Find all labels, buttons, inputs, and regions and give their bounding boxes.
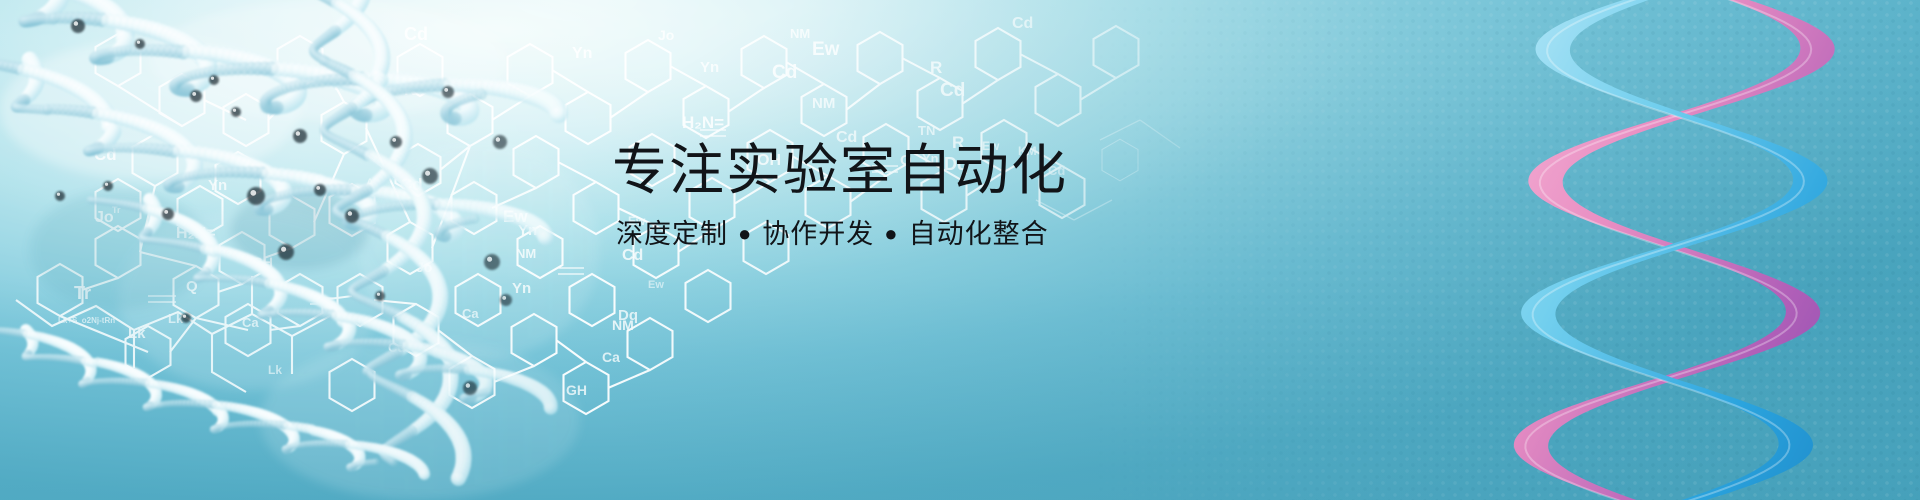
bead-highlight [296,131,300,135]
bead-highlight [164,210,168,214]
bead-highlight [377,293,380,296]
bead-highlight [250,190,256,196]
bead-dark-accent [442,86,454,98]
dna-double-helix [1360,0,1920,500]
bead-highlight [137,41,140,44]
bead-dark-accent [278,244,294,260]
bead-dark-accent [422,168,438,184]
bead-dark-accent [484,254,500,270]
bead-dark-accent [135,39,145,49]
bead-highlight [348,211,352,215]
bead-highlight [496,137,500,141]
bead-dark-accent [493,135,507,149]
subtitle-item-1: 深度定制 [616,219,728,249]
bead-dark-accent [231,107,241,117]
bead-dark-accent [314,184,326,196]
bead-dark-accent [463,381,477,395]
bead-highlight [211,77,214,80]
bead-dark-accent [209,75,219,85]
bead-highlight [316,186,320,190]
bead-highlight [281,247,286,252]
page-title: 专注实验室自动化 [612,140,1252,202]
subtitle-item-3: 自动化整合 [909,219,1049,249]
hero-subtitle: 深度定制●协作开发●自动化整合 [616,218,1252,250]
hero-banner: CdTrLkLk+S_o2Nj-tRnJoTrH₂N=QGHCaYnCaLkCd… [0,0,1920,500]
bead-highlight [233,109,236,112]
bead-highlight [105,183,108,186]
bullet-separator-icon: ● [884,221,898,247]
hero-text-block: 专注实验室自动化 深度定制●协作开发●自动化整合 [612,140,1252,250]
bead-highlight [57,193,60,196]
bead-dark-accent [103,181,113,191]
subtitle-item-2: 协作开发 [762,219,874,249]
bead-highlight [183,315,186,318]
bead-dark-accent [247,187,265,205]
bead-dark-accent [375,291,385,301]
bead-highlight [444,88,448,92]
bead-dark-accent [181,313,191,323]
bullet-separator-icon: ● [738,221,752,247]
bead-highlight [74,21,78,25]
bead-dark-accent [162,208,174,220]
bead-highlight [487,257,492,262]
bead-dark-accent [293,129,307,143]
bead-dark-accent [500,294,512,306]
bead-dark-accent [390,136,402,148]
bead-highlight [425,171,430,176]
bead-dark-accent [345,209,359,223]
bead-dark-accent [190,90,202,102]
bead-dark-accent [55,191,65,201]
bead-highlight [192,92,196,96]
bead-highlight [466,383,470,387]
bead-highlight [392,138,396,142]
helix-ribbons [1507,0,1835,500]
bead-highlight [502,296,506,300]
bead-dark-accent [71,19,85,33]
